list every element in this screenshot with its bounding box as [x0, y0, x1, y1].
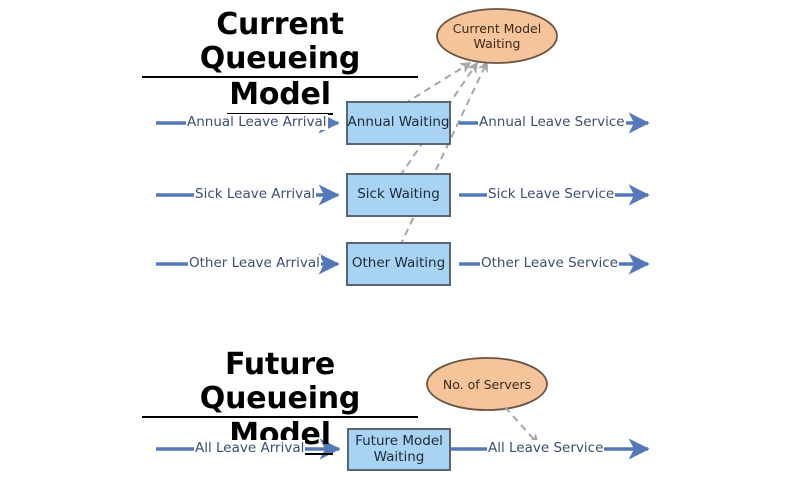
current-model-waiting-ellipse[interactable] — [437, 9, 557, 63]
flow-row-sick — [156, 174, 648, 216]
current-model-title-line1: Current Queueing — [142, 8, 418, 78]
current-model-title: Current Queueing Model — [142, 8, 418, 115]
sick-waiting-box[interactable] — [347, 174, 450, 216]
future-model-title: Future Queueing Model — [142, 348, 418, 455]
future-model-title-line2: Model — [227, 418, 333, 455]
no-of-servers-ellipse[interactable] — [427, 358, 547, 410]
flow-row-other — [156, 243, 648, 285]
other-waiting-box[interactable] — [347, 243, 450, 285]
queueing-model-diagram: Current Queueing Model Current Model Wai… — [0, 0, 800, 480]
current-model-title-line2: Model — [227, 78, 333, 115]
dashed-arrow-servers-to-service — [505, 407, 538, 444]
future-model-title-line1: Future Queueing — [142, 348, 418, 418]
